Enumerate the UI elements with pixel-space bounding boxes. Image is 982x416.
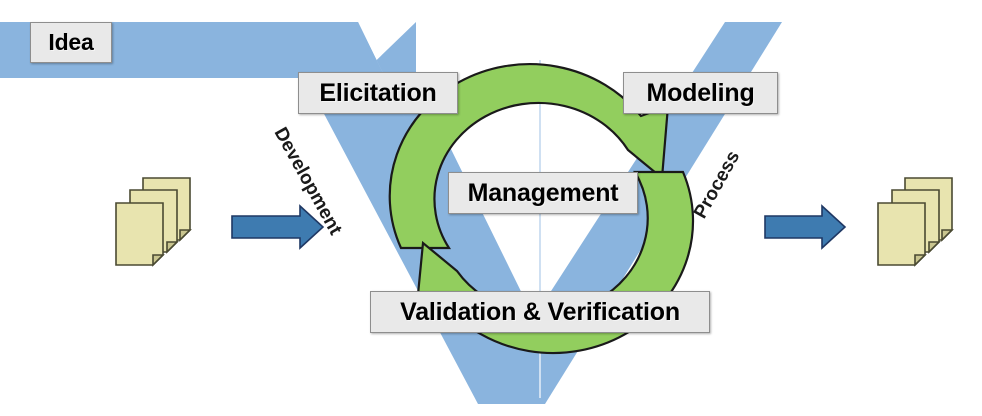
- label-box-modeling[interactable]: Modeling: [623, 72, 778, 114]
- document-corner-fold-back: [942, 230, 952, 240]
- label-box-elicitation[interactable]: Elicitation: [298, 72, 458, 114]
- input-document-stack: [116, 178, 190, 265]
- label-box-management[interactable]: Management: [448, 172, 638, 214]
- input-flow-arrow: [232, 206, 323, 248]
- diagram-canvas: Development Process Idea Elicitation Mod…: [0, 0, 982, 416]
- label-box-idea[interactable]: Idea: [30, 22, 112, 63]
- document-corner-fold-middle: [167, 242, 177, 252]
- output-flow-arrow: [765, 206, 845, 248]
- output-document-stack: [878, 178, 952, 265]
- document-corner-fold-middle: [929, 242, 939, 252]
- input-flow-arrow-body: [232, 206, 323, 248]
- output-flow-arrow-body: [765, 206, 845, 248]
- document-corner-fold-front: [153, 255, 163, 265]
- label-box-validation-verification[interactable]: Validation & Verification: [370, 291, 710, 333]
- document-corner-fold-back: [180, 230, 190, 240]
- document-corner-fold-front: [915, 255, 925, 265]
